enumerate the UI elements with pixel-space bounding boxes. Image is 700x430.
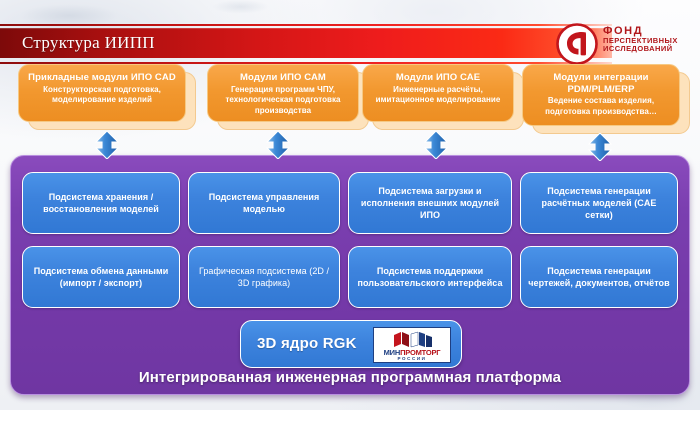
fpi-logo: ФОНД ПЕРСПЕКТИВНЫХ ИССЛЕДОВАНИЙ bbox=[556, 23, 698, 67]
subsystem-cae-mesh-generation[interactable]: Подсистема генерации расчётных моделей (… bbox=[520, 172, 678, 234]
subsystem-storage[interactable]: Подсистема хранения / восстановления мод… bbox=[22, 172, 180, 234]
double-arrow-vertical-icon bbox=[424, 131, 448, 159]
slide-canvas: Структура ИИПП ФОНД ПЕРСПЕКТИВНЫХ ИССЛЕД… bbox=[0, 0, 700, 410]
module-card-cae-heading: Модули ИПО САЕ bbox=[370, 72, 506, 84]
module-card-pdm[interactable]: Модули интеграции PDM/PLM/ERP Ведение со… bbox=[522, 64, 680, 126]
core-3d-rgk[interactable]: 3D ядро RGK МИНПРОМТОРГ РОССИИ bbox=[240, 320, 462, 368]
minpromtorg-logo: МИНПРОМТОРГ РОССИИ bbox=[373, 327, 451, 363]
module-card-cam-subtitle: Генерация программ ЧПУ, технологическая … bbox=[215, 85, 351, 117]
module-card-cad[interactable]: Прикладные модули ИПО CAD Конструкторска… bbox=[18, 64, 186, 122]
header-rule-top bbox=[0, 24, 612, 26]
fpi-logo-line3: ИССЛЕДОВАНИЙ bbox=[603, 45, 678, 53]
core-3d-rgk-label: 3D ядро RGK bbox=[257, 335, 357, 352]
module-card-cad-heading: Прикладные модули ИПО CAD bbox=[26, 72, 178, 84]
module-card-cae-subtitle: Инженерные расчёты, имитационное моделир… bbox=[370, 85, 506, 106]
subsystem-drawing-generation[interactable]: Подсистема генерации чертежей, документо… bbox=[520, 246, 678, 308]
module-card-pdm-subtitle: Ведение состава изделия, подготовка прои… bbox=[530, 96, 672, 117]
module-card-cad-subtitle: Конструкторская подготовка, моделировани… bbox=[26, 85, 178, 106]
platform-caption: Интегрированная инженерная программная п… bbox=[11, 369, 689, 386]
minpromtorg-emblem-icon bbox=[392, 331, 434, 348]
double-arrow-vertical-icon bbox=[95, 131, 119, 159]
page-title: Структура ИИПП bbox=[22, 33, 155, 53]
subsystem-data-exchange[interactable]: Подсистема обмена данными (импорт / эксп… bbox=[22, 246, 180, 308]
subsystem-graphics[interactable]: Графическая подсистема (2D / 3D графика) bbox=[188, 246, 340, 308]
subsystem-model-management[interactable]: Подсистема управления моделью bbox=[188, 172, 340, 234]
module-card-cam-heading: Модули ИПО САМ bbox=[215, 72, 351, 84]
double-arrow-vertical-icon bbox=[588, 133, 612, 161]
module-card-cae[interactable]: Модули ИПО САЕ Инженерные расчёты, имита… bbox=[362, 64, 514, 122]
module-card-cam[interactable]: Модули ИПО САМ Генерация программ ЧПУ, т… bbox=[207, 64, 359, 122]
subsystem-user-interface[interactable]: Подсистема поддержки пользовательского и… bbox=[348, 246, 512, 308]
subsystem-external-modules[interactable]: Подсистема загрузки и исполнения внешних… bbox=[348, 172, 512, 234]
double-arrow-vertical-icon bbox=[266, 131, 290, 159]
fpi-logo-text: ФОНД ПЕРСПЕКТИВНЫХ ИССЛЕДОВАНИЙ bbox=[603, 26, 678, 53]
minpromtorg-logo-subtext: РОССИИ bbox=[374, 356, 450, 361]
fpi-emblem-icon bbox=[556, 23, 598, 65]
module-card-pdm-heading: Модули интеграции PDM/PLM/ERP bbox=[530, 72, 672, 95]
slide-header: Структура ИИПП ФОНД ПЕРСПЕКТИВНЫХ ИССЛЕД… bbox=[0, 24, 700, 64]
header-title-bar: Структура ИИПП bbox=[0, 28, 612, 58]
